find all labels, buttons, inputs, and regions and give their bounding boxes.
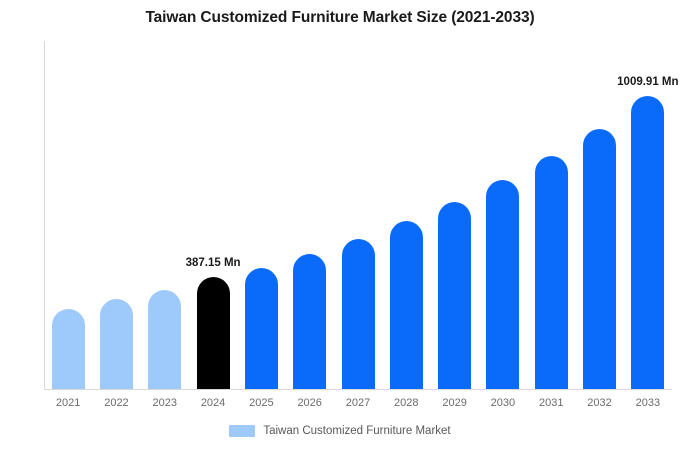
legend-swatch bbox=[229, 425, 255, 437]
bar-2028[interactable] bbox=[390, 221, 423, 389]
y-axis-line bbox=[44, 41, 45, 389]
chart-container: Taiwan Customized Furniture Market Size … bbox=[0, 0, 680, 450]
bar-2023[interactable] bbox=[148, 290, 181, 389]
bar-2025[interactable] bbox=[245, 268, 278, 390]
bar-2022[interactable] bbox=[100, 299, 133, 389]
bar-value-label: 1009.91 Mn bbox=[617, 76, 678, 88]
chart-legend: Taiwan Customized Furniture Market bbox=[0, 425, 680, 437]
bar-2027[interactable] bbox=[342, 239, 375, 390]
legend-label: Taiwan Customized Furniture Market bbox=[263, 425, 450, 437]
bar-2026[interactable] bbox=[293, 254, 326, 389]
bar-2030[interactable] bbox=[486, 180, 519, 389]
x-axis-tick-label: 2033 bbox=[618, 397, 678, 409]
plot-area: 02004006008001,0001,20020212022202320243… bbox=[44, 41, 672, 389]
bar-2033[interactable] bbox=[631, 96, 664, 389]
bar-2024[interactable] bbox=[197, 277, 230, 389]
bar-2029[interactable] bbox=[438, 202, 471, 389]
chart-title: Taiwan Customized Furniture Market Size … bbox=[0, 9, 680, 27]
bar-2032[interactable] bbox=[583, 129, 616, 389]
bar-2031[interactable] bbox=[535, 156, 568, 389]
bar-2021[interactable] bbox=[52, 309, 85, 389]
bar-value-label: 387.15 Mn bbox=[186, 257, 241, 269]
x-axis-line bbox=[44, 389, 672, 390]
